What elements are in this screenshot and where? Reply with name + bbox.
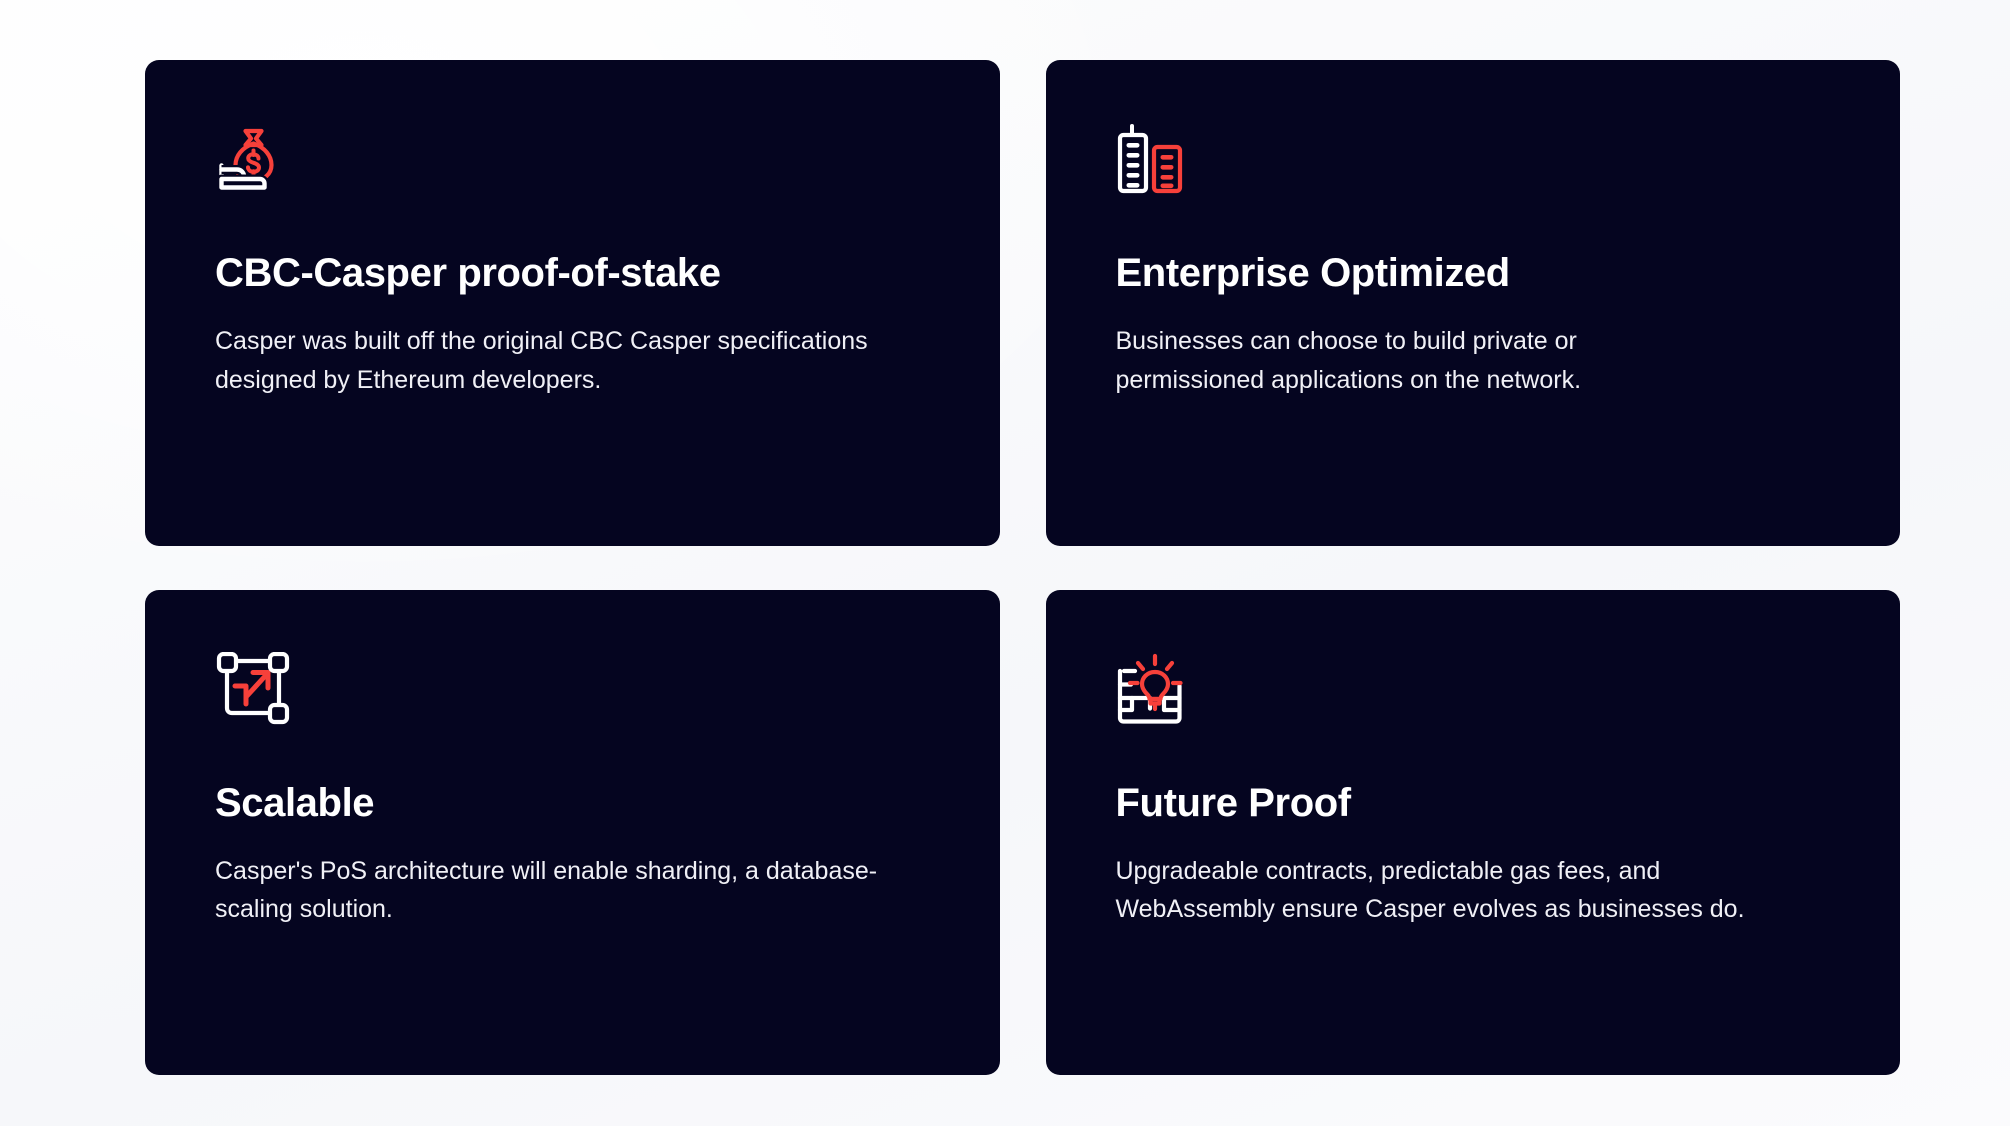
feature-section-page: CBC-Casper proof-of-stake Casper was bui…	[0, 0, 2010, 1126]
feature-card-body: Casper was built off the original CBC Ca…	[215, 322, 905, 400]
enterprise-buildings-icon	[1116, 122, 1192, 198]
feature-cards-grid: CBC-Casper proof-of-stake Casper was bui…	[145, 60, 1900, 1075]
feature-card-body: Businesses can choose to build private o…	[1116, 322, 1676, 400]
feature-card-title: Scalable	[215, 780, 930, 826]
feature-card-title: Future Proof	[1116, 780, 1831, 826]
lightbulb-circuit-icon	[1116, 652, 1192, 728]
feature-card-title: CBC-Casper proof-of-stake	[215, 250, 930, 296]
feature-card-body: Upgradeable contracts, predictable gas f…	[1116, 852, 1806, 930]
feature-card-enterprise-optimized[interactable]: Enterprise Optimized Businesses can choo…	[1046, 60, 1901, 546]
feature-card-title: Enterprise Optimized	[1116, 250, 1831, 296]
feature-card-scalable[interactable]: Scalable Casper's PoS architecture will …	[145, 590, 1000, 1076]
feature-card-proof-of-stake[interactable]: CBC-Casper proof-of-stake Casper was bui…	[145, 60, 1000, 546]
feature-card-body: Casper's PoS architecture will enable sh…	[215, 852, 905, 930]
scalable-resize-arrow-icon	[215, 652, 291, 728]
money-bag-stake-icon	[215, 122, 291, 198]
feature-card-future-proof[interactable]: Future Proof Upgradeable contracts, pred…	[1046, 590, 1901, 1076]
